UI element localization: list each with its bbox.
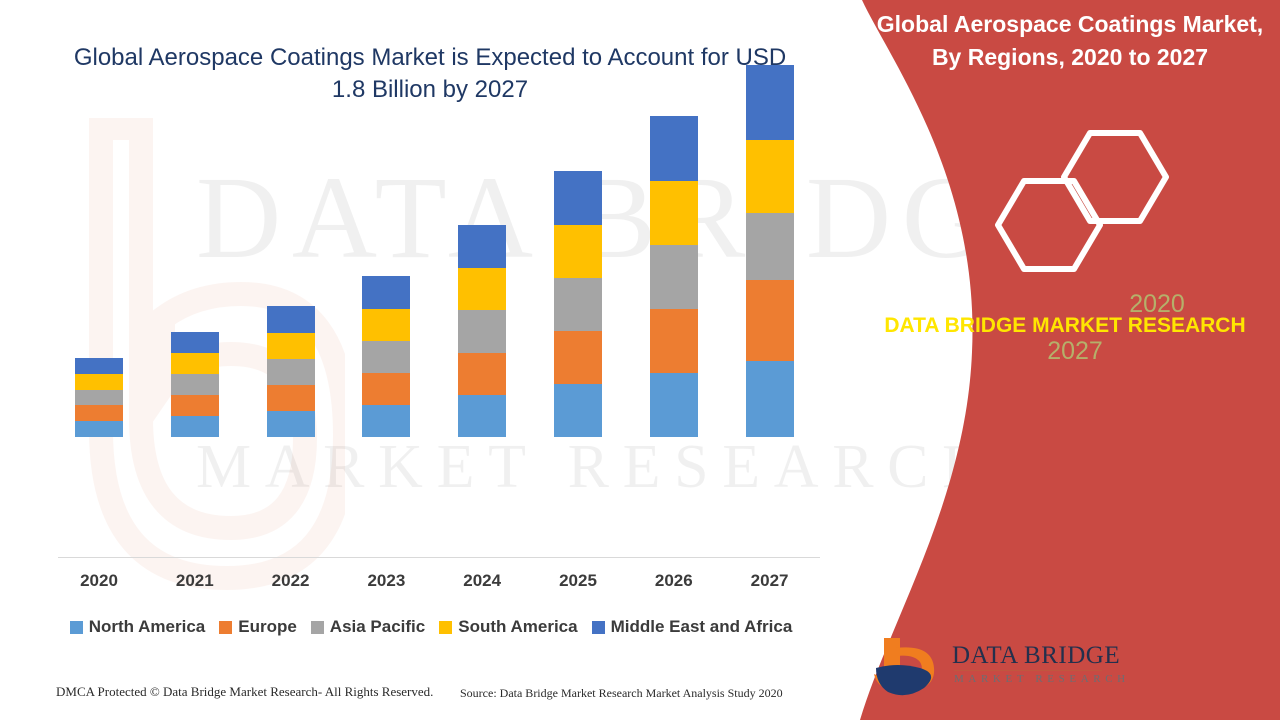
- logo-name-text: DATA BRIDGE: [952, 642, 1120, 670]
- bar-segment: [650, 181, 698, 245]
- logo-divider: [954, 670, 1102, 671]
- x-axis-label: 2026: [629, 571, 719, 591]
- x-axis-label: 2020: [54, 571, 144, 591]
- bar-stack: [650, 116, 698, 437]
- bar-segment: [458, 268, 506, 310]
- legend-swatch-icon: [311, 621, 324, 634]
- bar-segment: [267, 385, 315, 411]
- bar-stack: [362, 276, 410, 437]
- bar-segment: [650, 309, 698, 373]
- bar-segment: [75, 421, 123, 437]
- bar-segment: [458, 225, 506, 268]
- bar-segment: [554, 171, 602, 225]
- hexagon-graphic: 2020 2027: [850, 125, 1280, 305]
- bar-segment: [650, 373, 698, 437]
- x-axis-label: 2022: [246, 571, 336, 591]
- bar-segment: [554, 225, 602, 278]
- logo-mark-icon: [870, 634, 950, 700]
- legend-swatch-icon: [592, 621, 605, 634]
- legend-item[interactable]: Asia Pacific: [311, 617, 425, 637]
- legend-swatch-icon: [439, 621, 452, 634]
- legend-label: North America: [89, 617, 206, 637]
- bar-segment: [362, 405, 410, 437]
- legend-item[interactable]: Europe: [219, 617, 297, 637]
- bar-segment: [458, 395, 506, 437]
- x-axis-label: 2027: [725, 571, 815, 591]
- x-axis-label: 2021: [150, 571, 240, 591]
- bar-segment: [75, 374, 123, 390]
- panel-title: Global Aerospace Coatings Market, By Reg…: [870, 8, 1270, 73]
- x-axis-label: 2025: [533, 571, 623, 591]
- legend-label: Middle East and Africa: [611, 617, 793, 637]
- bar-stack: [171, 332, 219, 437]
- bar-stack: [554, 171, 602, 437]
- bar-segment: [171, 395, 219, 416]
- bar-segment: [362, 373, 410, 405]
- legend-label: Europe: [238, 617, 297, 637]
- bar-segment: [171, 332, 219, 353]
- legend-item[interactable]: South America: [439, 617, 577, 637]
- bar-segment: [554, 331, 602, 384]
- bar-segment: [554, 384, 602, 437]
- bar-segment: [650, 116, 698, 181]
- data-bridge-logo: DATA BRIDGE MARKET RESEARCH: [870, 632, 1110, 700]
- legend-label: Asia Pacific: [330, 617, 425, 637]
- right-red-panel: Global Aerospace Coatings Market, By Reg…: [830, 0, 1280, 720]
- bar-segment: [746, 361, 794, 437]
- bar-segment: [362, 309, 410, 341]
- legend-item[interactable]: North America: [70, 617, 206, 637]
- chart-legend: North AmericaEuropeAsia PacificSouth Ame…: [0, 617, 862, 637]
- bar-segment: [171, 353, 219, 374]
- bar-segment: [458, 310, 506, 353]
- bar-segment: [267, 306, 315, 333]
- bar-segment: [75, 390, 123, 405]
- logo-tagline-text: MARKET RESEARCH: [954, 673, 1130, 685]
- stacked-bar-chart: 20202021202220232024202520262027: [0, 0, 860, 600]
- x-axis-label: 2023: [341, 571, 431, 591]
- bar-segment: [746, 140, 794, 213]
- bar-segment: [650, 245, 698, 309]
- legend-swatch-icon: [70, 621, 83, 634]
- legend-item[interactable]: Middle East and Africa: [592, 617, 793, 637]
- x-axis-label: 2024: [437, 571, 527, 591]
- bar-segment: [171, 416, 219, 437]
- bar-stack: [75, 358, 123, 437]
- bar-segment: [362, 276, 410, 309]
- bar-stack: [267, 306, 315, 437]
- bar-segment: [746, 280, 794, 361]
- bar-segment: [171, 374, 219, 395]
- bar-segment: [267, 333, 315, 359]
- hexagon-2020-shape: [1064, 133, 1166, 221]
- footer-dmca-text: DMCA Protected © Data Bridge Market Rese…: [56, 684, 433, 700]
- bar-segment: [554, 278, 602, 331]
- footer-source-text: Source: Data Bridge Market Research Mark…: [460, 686, 783, 701]
- x-axis-line: [58, 557, 820, 558]
- bar-segment: [746, 65, 794, 140]
- brand-name: DATA BRIDGE MARKET RESEARCH: [850, 310, 1280, 342]
- bar-stack: [746, 65, 794, 437]
- bar-segment: [75, 405, 123, 421]
- infographic-page: DATA BRIDGE MARKET RESEARCH Global Aeros…: [0, 0, 1280, 720]
- bar-segment: [746, 213, 794, 280]
- bar-segment: [458, 353, 506, 395]
- hexagon-outlines: [850, 125, 1280, 305]
- bar-segment: [75, 358, 123, 374]
- bar-segment: [362, 341, 410, 373]
- bar-segment: [267, 359, 315, 385]
- hexagon-2027-shape: [998, 181, 1100, 269]
- legend-swatch-icon: [219, 621, 232, 634]
- bar-stack: [458, 225, 506, 437]
- legend-label: South America: [458, 617, 577, 637]
- bar-segment: [267, 411, 315, 437]
